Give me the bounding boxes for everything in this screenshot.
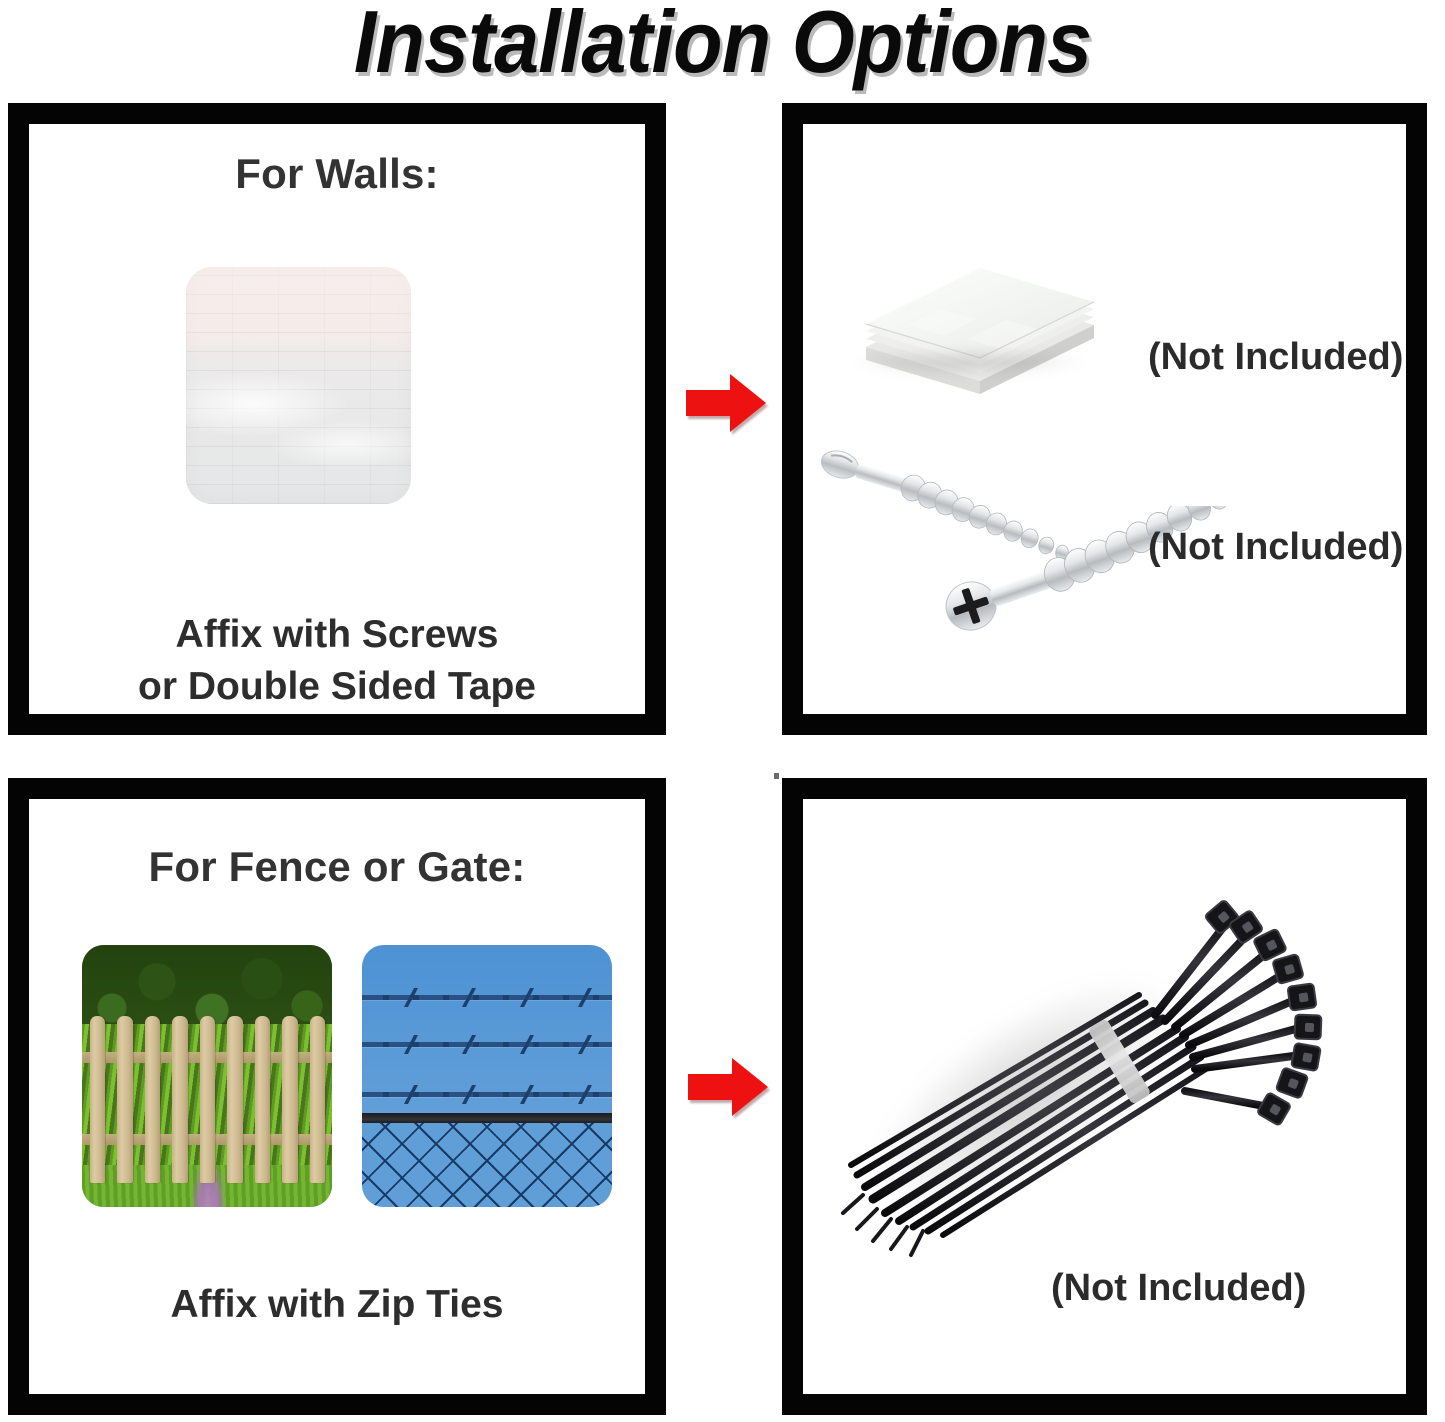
arrow-fence-to-hardware-icon (688, 1056, 768, 1118)
for-walls-caption-line2: or Double Sided Tape (29, 661, 645, 713)
for-walls-caption-line1: Affix with Screws (29, 609, 645, 661)
screws-not-included-label: (Not Included) (1148, 526, 1403, 569)
double-sided-tape-image (848, 229, 1103, 404)
panel-wall-hardware: (Not Included) (782, 103, 1427, 735)
panel-for-walls: For Walls: Affix with Screws or Double S… (8, 103, 666, 735)
panel-fence-hardware: (Not Included) (782, 778, 1427, 1415)
for-fence-heading: For Fence or Gate: (29, 843, 645, 891)
tape-not-included-label: (Not Included) (1148, 336, 1403, 379)
scan-artifact-speck (774, 773, 779, 779)
zip-ties-not-included-label: (Not Included) (1051, 1267, 1306, 1310)
for-walls-heading: For Walls: (29, 150, 645, 198)
panel-for-fence-or-gate: For Fence or Gate: (8, 778, 666, 1415)
for-fence-caption: Affix with Zip Ties (29, 1279, 645, 1331)
zip-ties-image (833, 869, 1353, 1269)
picket-fence-image (82, 945, 332, 1207)
brick-wall-image (186, 267, 411, 504)
tape-stack-icon (848, 229, 1103, 404)
arrow-walls-to-hardware-icon (686, 372, 766, 434)
chain-link-fence-image (362, 945, 612, 1207)
page-title: Installation Options (58, 0, 1387, 90)
